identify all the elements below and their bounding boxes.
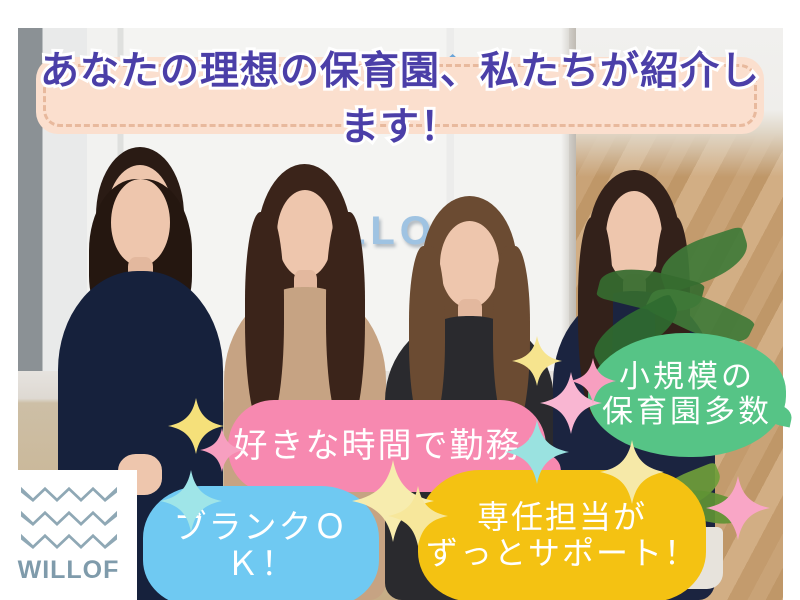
headline-text: あなたの理想の保育園、私たちが紹介します！ [36,40,764,152]
sparkle-yellow-bubble-gap [388,486,448,546]
corner-brand-logo: WILLOF [0,470,137,600]
headline-banner: あなたの理想の保育園、私たちが紹介します！ [36,57,764,134]
bubble-small-nursery: 小規模の 保育園多数 [588,333,786,457]
bubble-small-nursery-line1: 小規模の [602,360,772,395]
person-2-face [277,190,333,278]
bubble-dedicated-support-line1: 専任担当が [426,500,698,536]
bubble-dedicated-support-line2: ずっとサポート！ [426,536,698,572]
sparkle-pink-right [706,476,770,540]
person-3-face [440,221,499,307]
sparkle-yellow-green-bubble [600,440,664,504]
bubble-small-nursery-line2: 保育園多数 [602,395,772,430]
person-1-face-front [111,179,170,266]
advertisement-canvas: WILLOF [0,0,800,600]
sparkle-cyan-mid [505,420,569,484]
chevron-row-icon [21,509,117,526]
chevron-row-icon [21,485,117,502]
chevron-row-icon [21,532,117,549]
sparkle-cyan-left [160,470,222,532]
corner-logo-chevrons [21,485,117,549]
sparkle-pink-left [200,428,244,472]
sparkle-pink-greenleft [570,358,616,404]
corner-logo-wordmark: WILLOF [18,556,120,585]
